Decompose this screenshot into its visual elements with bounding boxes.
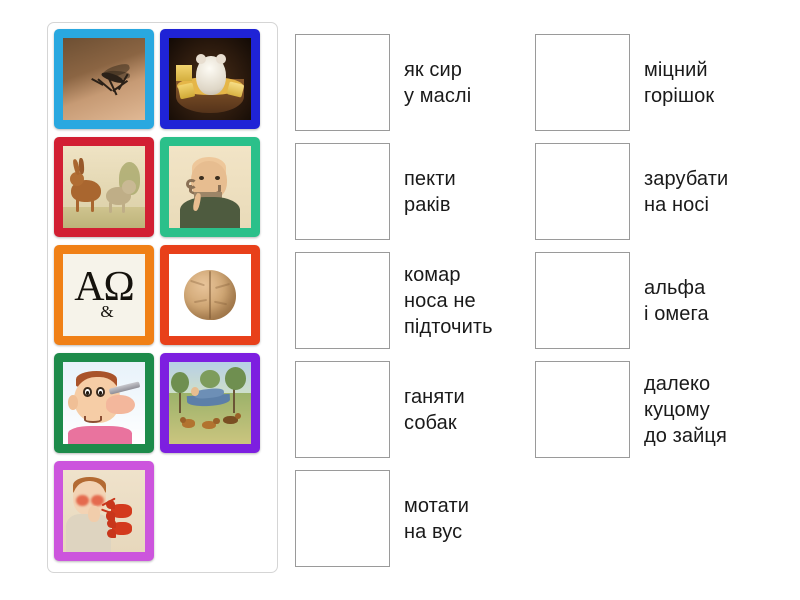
illustration-walnut	[169, 254, 251, 336]
drop-box-row-hanyaty[interactable]	[295, 361, 390, 458]
illustration-alpha: ΑΩ&	[63, 254, 145, 336]
image-cards-grid: ΑΩ&	[54, 29, 273, 561]
word-label-row-daleko: далеко куцому до зайця	[644, 371, 727, 449]
word-row: мотати на вус	[295, 470, 493, 567]
image-cards-panel: ΑΩ&	[47, 22, 278, 573]
card-crayfish[interactable]	[54, 461, 154, 561]
word-column-right: міцний горішокзарубати на носіальфа і ом…	[535, 34, 728, 470]
word-row: далеко куцому до зайця	[535, 361, 728, 458]
illustration-mouse	[169, 38, 251, 120]
word-label-row-alfa: альфа і омега	[644, 275, 709, 327]
word-label-row-motaty: мотати на вус	[404, 493, 469, 545]
word-label-row-komar: комар носа не підточить	[404, 262, 493, 340]
card-notch[interactable]	[54, 353, 154, 453]
word-label-row-yak-syr: як сир у маслі	[404, 57, 471, 109]
drop-box-row-yak-syr[interactable]	[295, 34, 390, 131]
drop-box-row-daleko[interactable]	[535, 361, 630, 458]
card-walnut[interactable]	[160, 245, 260, 345]
illustration-mosquito	[63, 38, 145, 120]
drop-box-row-pekty[interactable]	[295, 143, 390, 240]
word-column-left: як сир у масліпекти раківкомар носа не п…	[295, 34, 493, 579]
illustration-dogs	[169, 362, 251, 444]
drop-box-row-motaty[interactable]	[295, 470, 390, 567]
word-row: міцний горішок	[535, 34, 728, 131]
match-up-activity: ΑΩ& як сир у масліпекти раківкомар носа …	[0, 0, 800, 600]
illustration-hare	[63, 146, 145, 228]
card-mouse[interactable]	[160, 29, 260, 129]
card-mosquito[interactable]	[54, 29, 154, 129]
card-hare-dog[interactable]	[54, 137, 154, 237]
ampersand-text: &	[100, 302, 113, 322]
drop-box-row-komar[interactable]	[295, 252, 390, 349]
illustration-man	[169, 146, 251, 228]
drop-box-row-mitsnyi[interactable]	[535, 34, 630, 131]
word-row: пекти раків	[295, 143, 493, 240]
illustration-notch	[63, 362, 145, 444]
card-alpha[interactable]: ΑΩ&	[54, 245, 154, 345]
drop-box-row-alfa[interactable]	[535, 252, 630, 349]
card-man[interactable]	[160, 137, 260, 237]
word-label-row-mitsnyi: міцний горішок	[644, 57, 714, 109]
word-row: ганяти собак	[295, 361, 493, 458]
word-row: комар носа не підточить	[295, 252, 493, 349]
word-row: зарубати на носі	[535, 143, 728, 240]
word-label-row-zarubaty: зарубати на носі	[644, 166, 728, 218]
word-row: альфа і омега	[535, 252, 728, 349]
illustration-crayfish	[63, 470, 145, 552]
card-dogs[interactable]	[160, 353, 260, 453]
word-label-row-hanyaty: ганяти собак	[404, 384, 465, 436]
alpha-omega-text: ΑΩ	[74, 268, 134, 306]
drop-box-row-zarubaty[interactable]	[535, 143, 630, 240]
word-row: як сир у маслі	[295, 34, 493, 131]
word-label-row-pekty: пекти раків	[404, 166, 456, 218]
